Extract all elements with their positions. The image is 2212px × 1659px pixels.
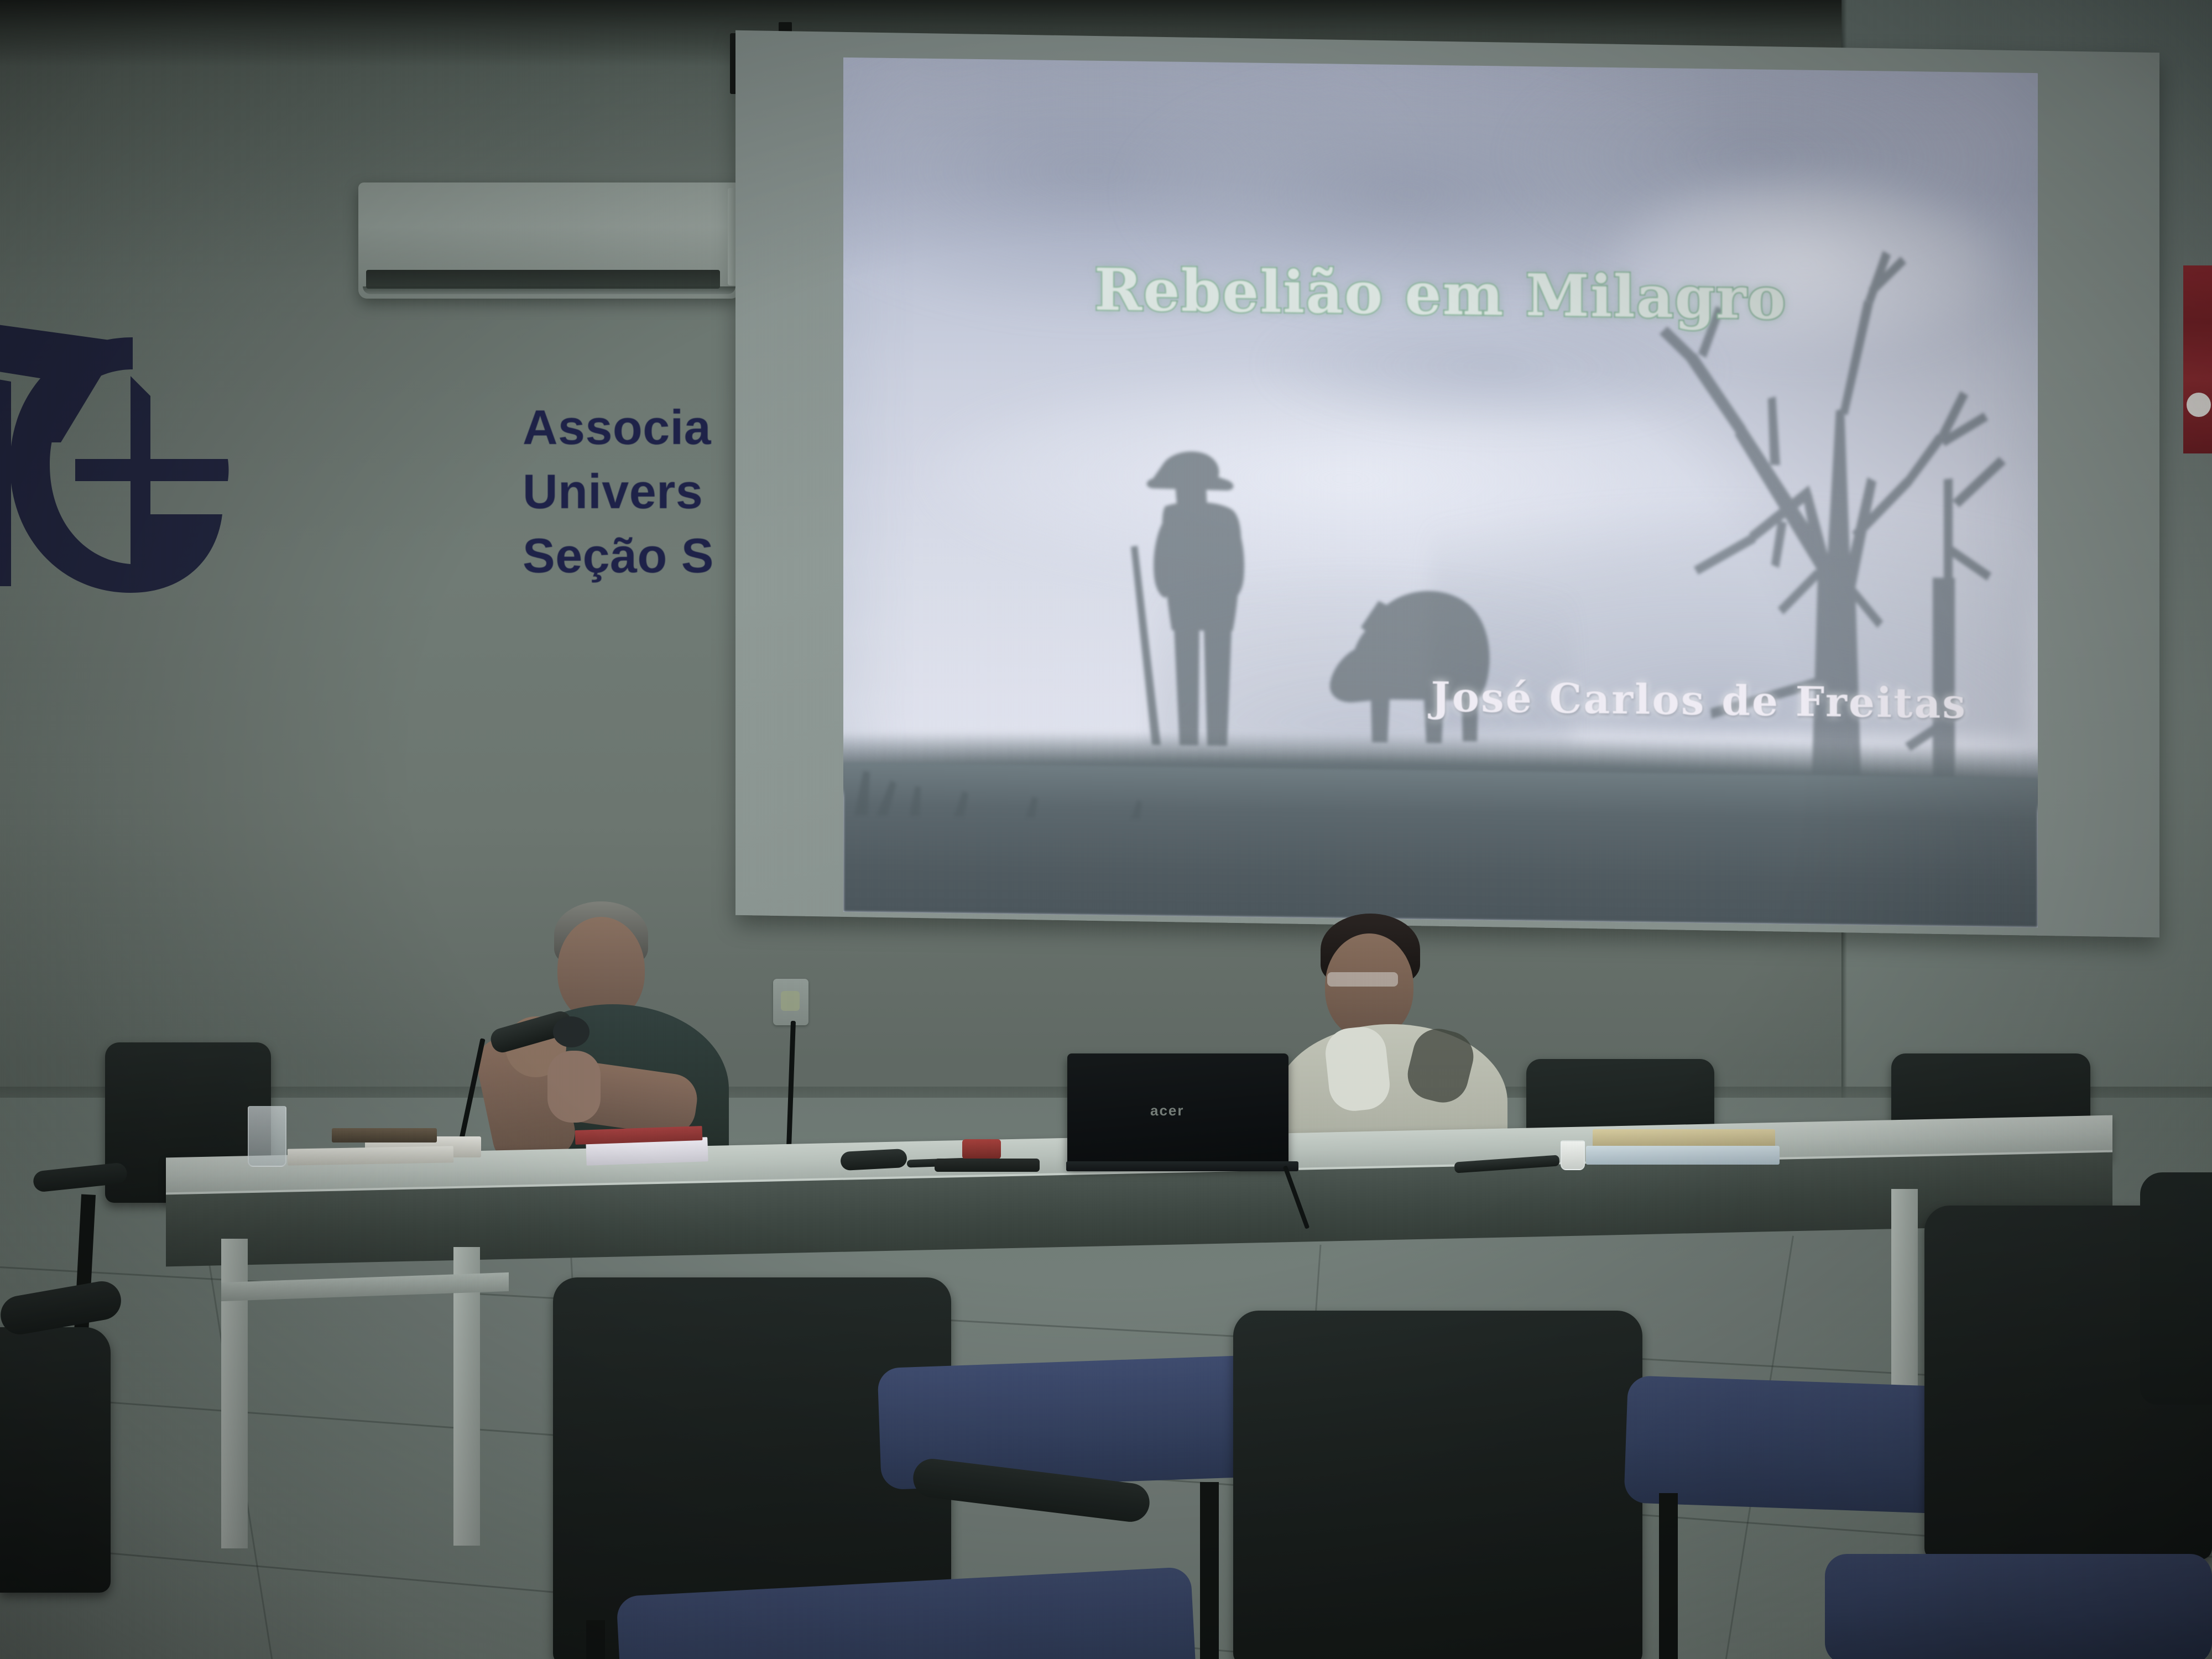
foreground-chair-back[interactable] — [0, 1327, 111, 1593]
institution-logo — [0, 276, 232, 653]
laptop-base — [1066, 1161, 1298, 1171]
speaker-left-hand — [547, 1051, 601, 1123]
wall-sign-line-1: Associa — [523, 395, 714, 460]
panelist-right-glasses — [1327, 972, 1398, 987]
book-stack[interactable] — [1593, 1129, 1775, 1147]
microphone-cable — [457, 1038, 485, 1147]
foreground-chair-back[interactable] — [1233, 1311, 1642, 1659]
wall-sign-line-3: Seção S — [523, 524, 714, 588]
laptop-brand-logo: acer — [1150, 1102, 1185, 1119]
red-poster-right-edge — [2183, 265, 2212, 453]
panelist-right-collar — [1323, 1025, 1392, 1114]
farmer-silhouette — [1110, 437, 1292, 749]
air-conditioner-vent — [363, 286, 735, 294]
small-red-device[interactable] — [962, 1139, 1001, 1159]
drinking-glass[interactable] — [248, 1106, 286, 1167]
grass-tufts — [843, 749, 1341, 822]
papers-on-table[interactable] — [288, 1146, 453, 1165]
slide-author: José Carlos de Freitas — [1431, 674, 1967, 728]
remote-control[interactable] — [935, 1159, 1040, 1172]
foreground-chair-back[interactable] — [2140, 1172, 2212, 1405]
foreground-chair-seat[interactable] — [1825, 1554, 2212, 1659]
photo-scene: Associa Univers Seção S — [0, 0, 2212, 1659]
chair-leg — [1200, 1482, 1219, 1659]
wall-sign-text: Associa Univers Seção S — [523, 395, 714, 588]
chair-leg — [1659, 1493, 1678, 1659]
book-stack[interactable] — [1586, 1146, 1780, 1165]
table-microphone[interactable] — [840, 1149, 907, 1171]
book-on-table[interactable] — [332, 1128, 437, 1142]
air-conditioner — [358, 182, 740, 299]
small-white-bottle[interactable] — [1561, 1140, 1585, 1170]
projected-slide: Rebelião em Milagro José Carlos de Freit… — [843, 58, 2038, 927]
laptop[interactable]: acer — [1067, 1053, 1288, 1167]
chair-leg — [586, 1620, 605, 1659]
wall-sign-line-2: Univers — [523, 460, 714, 524]
microphone-head — [553, 1016, 589, 1047]
